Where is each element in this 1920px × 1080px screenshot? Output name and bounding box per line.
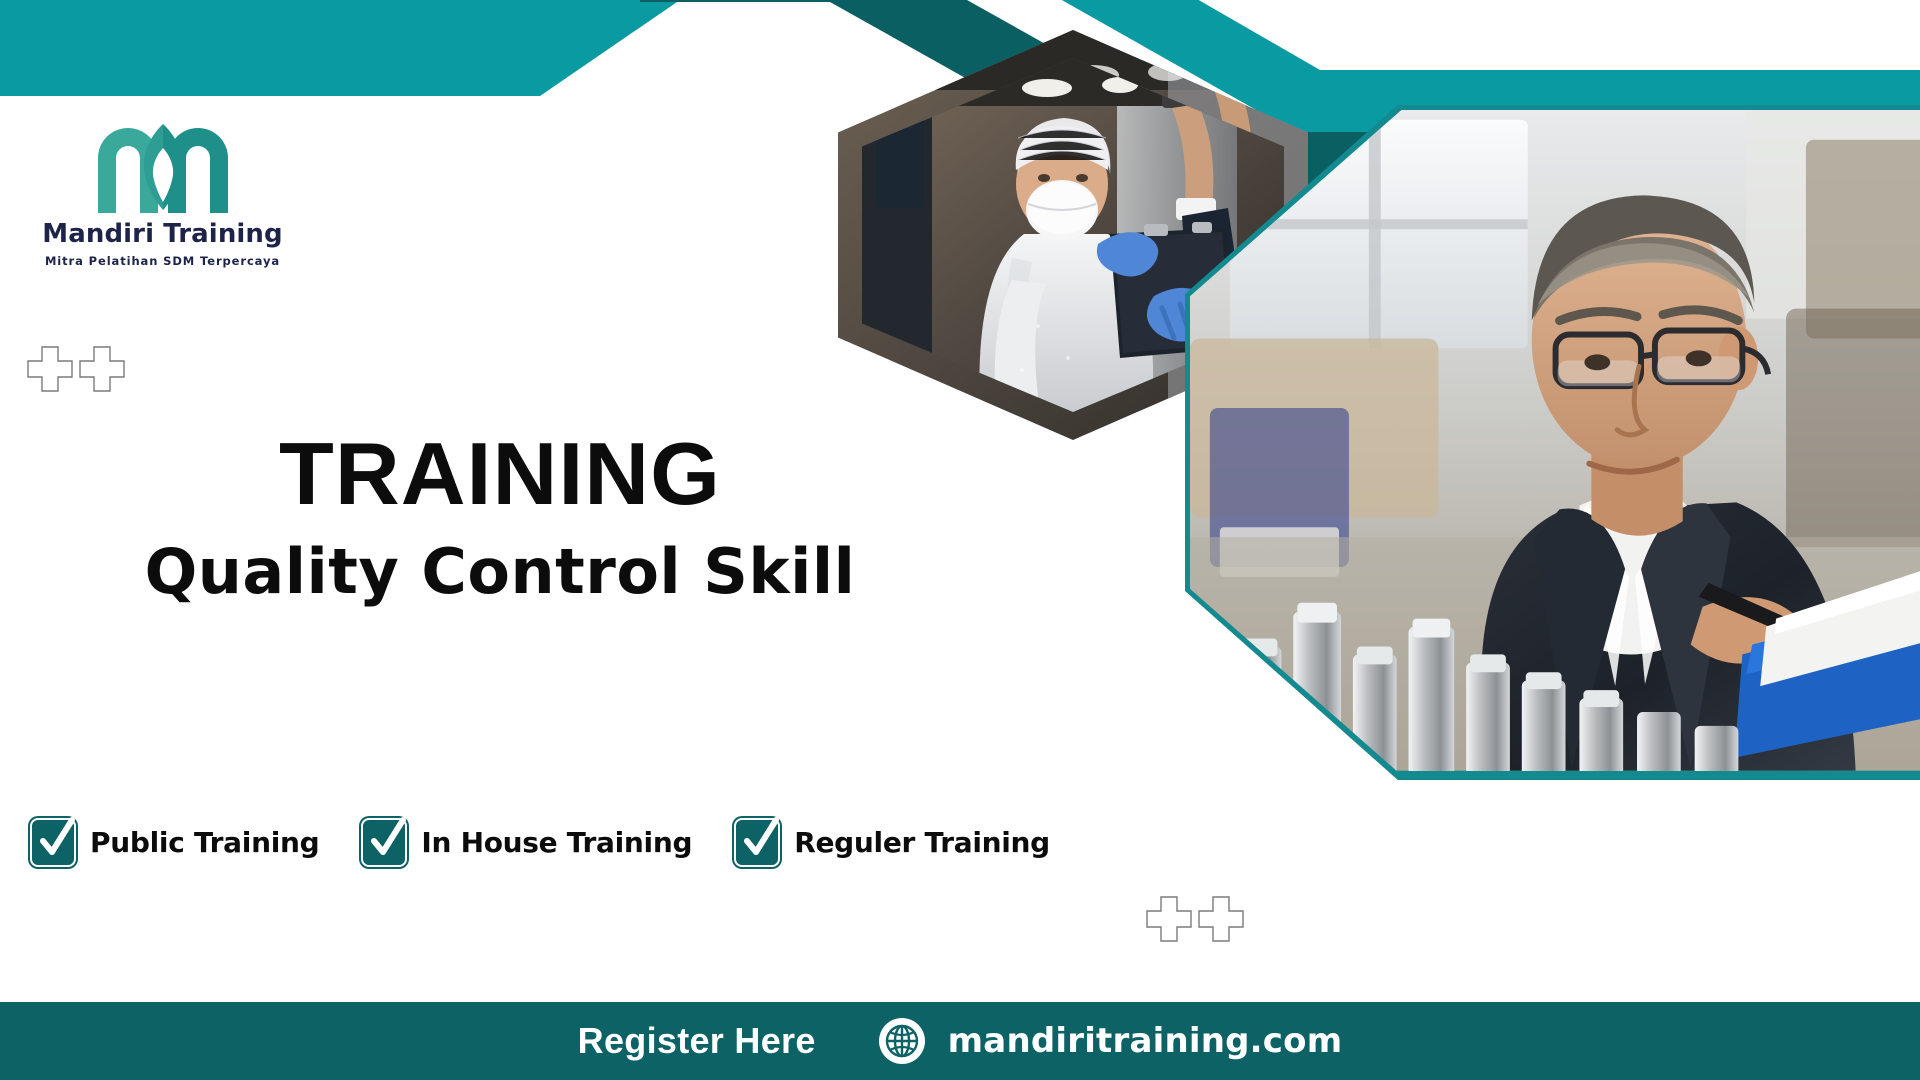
website-url: mandiritraining.com (948, 1021, 1343, 1061)
decor-cross-right (1145, 895, 1245, 943)
headline-eyebrow: TRAINING (0, 430, 1010, 518)
decor-cross-left (26, 345, 126, 393)
checkmark-icon (36, 818, 76, 864)
footer-bar: Register Here mandiritraining.com (0, 1002, 1920, 1080)
globe-icon (878, 1017, 926, 1065)
cross-outline-icon (1145, 895, 1193, 943)
website-block[interactable]: mandiritraining.com (878, 1017, 1343, 1065)
checkmark-icon (740, 818, 780, 864)
brand-name: Mandiri Training (35, 219, 290, 249)
check-square-icon (734, 818, 780, 867)
check-square-icon (30, 818, 76, 867)
page-title: Quality Control Skill (0, 538, 1000, 606)
headline-block: TRAINING Quality Control Skill (0, 430, 1000, 606)
engineer-photo-art (1190, 110, 1920, 771)
list-item[interactable]: Reguler Training (734, 818, 1050, 867)
brand-logo[interactable]: Mandiri Training Mitra Pelatihan SDM Ter… (35, 110, 290, 268)
check-square-icon (361, 818, 407, 867)
checkmark-icon (367, 818, 407, 864)
list-item-label: In House Training (421, 826, 692, 859)
list-item-label: Reguler Training (794, 826, 1050, 859)
brand-tagline: Mitra Pelatihan SDM Terpercaya (35, 254, 290, 268)
top-band-light-slope (430, 0, 770, 96)
cross-outline-icon (78, 345, 126, 393)
cross-outline-icon (26, 345, 74, 393)
register-label: Register Here (578, 1020, 816, 1062)
mandiri-m-logo-icon (88, 110, 238, 215)
cross-outline-icon (1197, 895, 1245, 943)
list-item[interactable]: In House Training (361, 818, 692, 867)
list-item[interactable]: Public Training (30, 818, 319, 867)
poster-canvas: Mandiri Training Mitra Pelatihan SDM Ter… (0, 0, 1920, 1080)
hexagon-photo-engineer (1185, 105, 1920, 780)
engineer-photo (1190, 110, 1920, 775)
training-type-list: Public Training In House Training Regule… (30, 818, 1092, 867)
list-item-label: Public Training (90, 826, 319, 859)
